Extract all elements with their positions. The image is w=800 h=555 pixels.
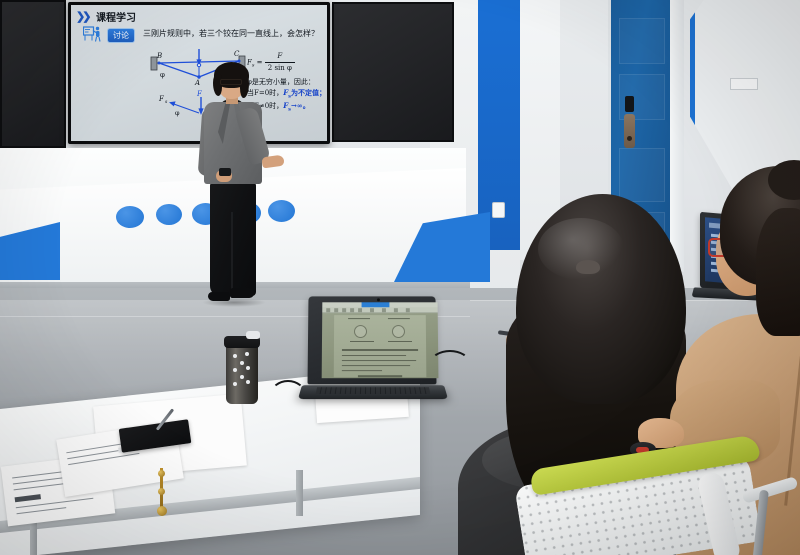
power-cable <box>270 380 306 410</box>
wall-circle <box>156 204 182 225</box>
instructor-shoe <box>230 288 254 298</box>
classroom-photo-scene: ❯❯ 课程学习 讨论 三刚片规则中，若三个铰在同一直线上，会怎样？ <box>0 0 800 555</box>
attendee-right-hair-front <box>756 208 800 336</box>
blackboard-panel-left <box>0 0 66 148</box>
instructor-hair-side <box>240 74 249 98</box>
hair-tie <box>576 260 600 274</box>
instructor-glasses <box>220 79 242 85</box>
door-panel <box>619 18 665 64</box>
svg-text:φ: φ <box>160 71 165 79</box>
double-chevron-right-icon: ❯❯ <box>76 10 88 23</box>
teacher-at-board-icon <box>83 26 103 42</box>
svg-text:F: F <box>194 49 201 50</box>
instructor-gesturing-hand <box>261 155 284 169</box>
instructor-trousers <box>210 180 256 296</box>
svg-text:B: B <box>156 52 162 60</box>
table-leg <box>296 470 303 516</box>
wall-circle <box>116 206 144 228</box>
instructor-trouser-seam <box>231 212 233 290</box>
charm-bead <box>158 488 165 495</box>
slide-title: 课程学习 <box>96 9 136 24</box>
webcam-icon <box>377 298 380 301</box>
svg-text:s: s <box>165 100 168 105</box>
blackboard-panel-right <box>332 2 454 142</box>
slide-question-text: 三刚片规则中，若三个铰在同一直线上，会怎样？ <box>143 29 327 39</box>
charm-bead <box>157 506 167 516</box>
instructor-shoe <box>208 292 230 301</box>
thermos-flip-tab[interactable] <box>246 331 260 339</box>
smart-door-lock-icon[interactable] <box>625 96 634 112</box>
charm-bead <box>158 470 165 477</box>
seal-graphic <box>354 325 367 338</box>
svg-text:F: F <box>158 95 165 103</box>
instructor-figure <box>186 62 306 310</box>
mesh-chair[interactable] <box>520 448 780 555</box>
door-handle[interactable] <box>624 114 635 148</box>
presentation-clicker[interactable] <box>219 168 231 176</box>
svg-text:C: C <box>234 50 240 58</box>
svg-text:φ: φ <box>175 109 180 117</box>
instructor-hair-side <box>213 74 222 96</box>
discussion-badge: 讨论 <box>107 28 135 43</box>
whiteboard-note <box>730 78 758 90</box>
thermos-bottle <box>226 342 258 404</box>
